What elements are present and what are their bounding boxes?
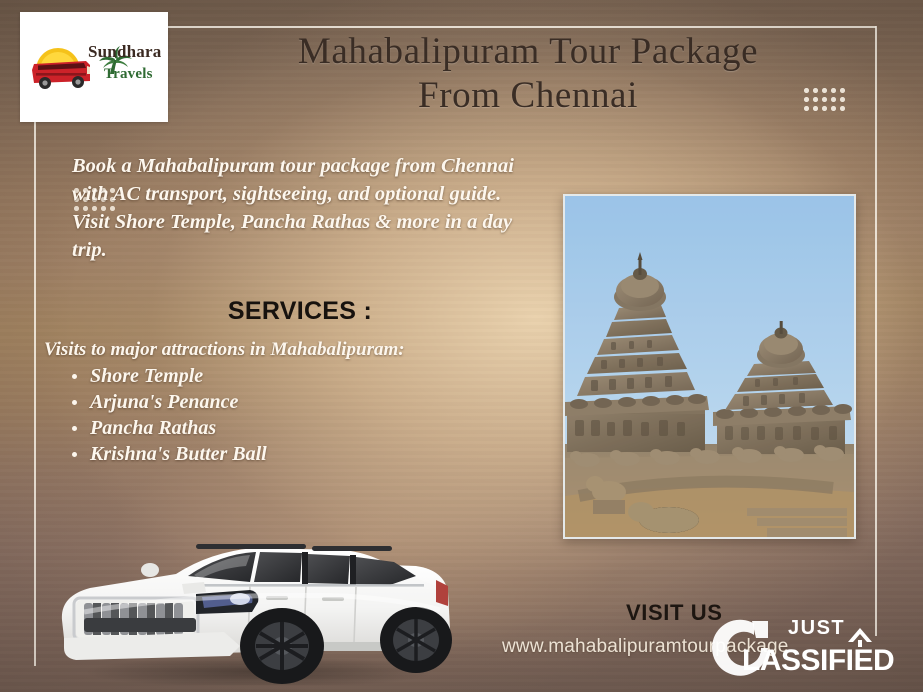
poster-canvas: Sundhara Travels Mahabalipuram Tour Pack… bbox=[0, 0, 923, 692]
shore-temple-photo bbox=[563, 194, 856, 539]
headline-line-2: From Chennai bbox=[188, 74, 868, 118]
list-item: Krishna's Butter Ball bbox=[90, 441, 520, 467]
visit-us-label: VISIT US bbox=[626, 600, 723, 626]
frame-left-line bbox=[34, 26, 36, 666]
list-item: Pancha Rathas bbox=[90, 415, 520, 441]
brand-logo-card: Sundhara Travels bbox=[20, 12, 168, 122]
logo-brand-suffix: Travels bbox=[104, 66, 153, 83]
white-suv-photo bbox=[44, 500, 474, 685]
rear-wheel bbox=[380, 607, 452, 673]
list-item: Shore Temple bbox=[90, 363, 520, 389]
headline-line-1: Mahabalipuram Tour Package bbox=[188, 30, 868, 74]
poster-headline: Mahabalipuram Tour Package From Chennai bbox=[188, 30, 868, 118]
intro-paragraph: Book a Mahabalipuram tour package from C… bbox=[72, 152, 542, 264]
chevron-up-icon bbox=[848, 628, 872, 647]
list-item: Arjuna's Penance bbox=[90, 389, 520, 415]
website-url: www.mahabalipuramtourpackage bbox=[502, 636, 789, 658]
watermark-just-text: JUST bbox=[788, 617, 845, 639]
frame-right-line bbox=[875, 26, 877, 636]
front-wheel bbox=[240, 608, 324, 684]
services-list: Shore Temple Arjuna's Penance Pancha Rat… bbox=[62, 363, 520, 467]
services-subheading: Visits to major attractions in Mahabalip… bbox=[44, 339, 584, 361]
bus-icon bbox=[32, 61, 90, 89]
logo-brand-name: Sundhara bbox=[88, 42, 161, 62]
services-heading: SERVICES : bbox=[120, 297, 480, 326]
